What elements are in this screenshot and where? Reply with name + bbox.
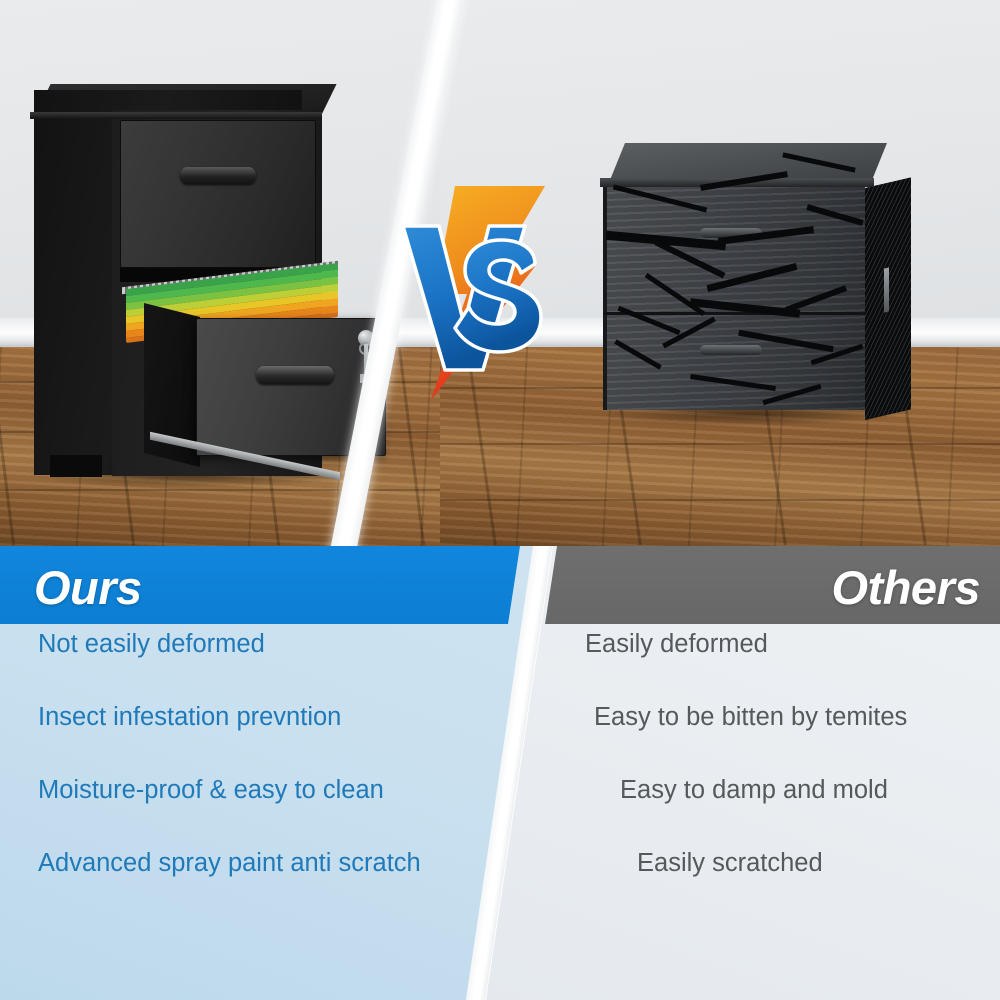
comparison-infographic: Ours Others Not easily deformed Easily d… [0, 0, 1000, 1000]
ours-feature-4: Advanced spray paint anti scratch [38, 849, 421, 878]
cabinet-top-edge [30, 112, 322, 119]
others-feature-2: Easy to be bitten by temites [594, 703, 907, 732]
feature-row: Moisture-proof & easy to clean Easy to d… [0, 776, 1000, 849]
ours-feature-1: Not easily deformed [38, 630, 265, 659]
ours-feature-3: Moisture-proof & easy to clean [38, 776, 384, 805]
feature-row: Advanced spray paint anti scratch Easily… [0, 849, 1000, 922]
others-header-bar: Others [545, 546, 1000, 624]
feature-row: Not easily deformed Easily deformed [0, 630, 1000, 703]
ours-title: Ours [34, 560, 142, 615]
ours-header-bar: Ours [0, 546, 540, 624]
vs-badge [395, 178, 555, 408]
others-feature-4: Easily scratched [637, 849, 823, 878]
feature-row: Insect infestation prevntion Easy to be … [0, 703, 1000, 776]
upper-drawer [120, 120, 316, 268]
cabinet-foot [50, 455, 102, 477]
ours-feature-2: Insect infestation prevntion [38, 703, 341, 732]
others-feature-1: Easily deformed [585, 630, 768, 659]
others-title: Others [832, 560, 981, 615]
others-feature-3: Easy to damp and mold [620, 776, 888, 805]
comparison-section: Ours Others Not easily deformed Easily d… [0, 546, 1000, 1000]
feature-rows: Not easily deformed Easily deformed Inse… [0, 624, 1000, 1000]
side-panel-bar [884, 267, 889, 312]
product-photo-section [0, 0, 1000, 546]
upper-drawer-handle [180, 167, 256, 184]
cracked-lower-handle [700, 345, 762, 355]
lower-drawer-handle [256, 366, 334, 384]
